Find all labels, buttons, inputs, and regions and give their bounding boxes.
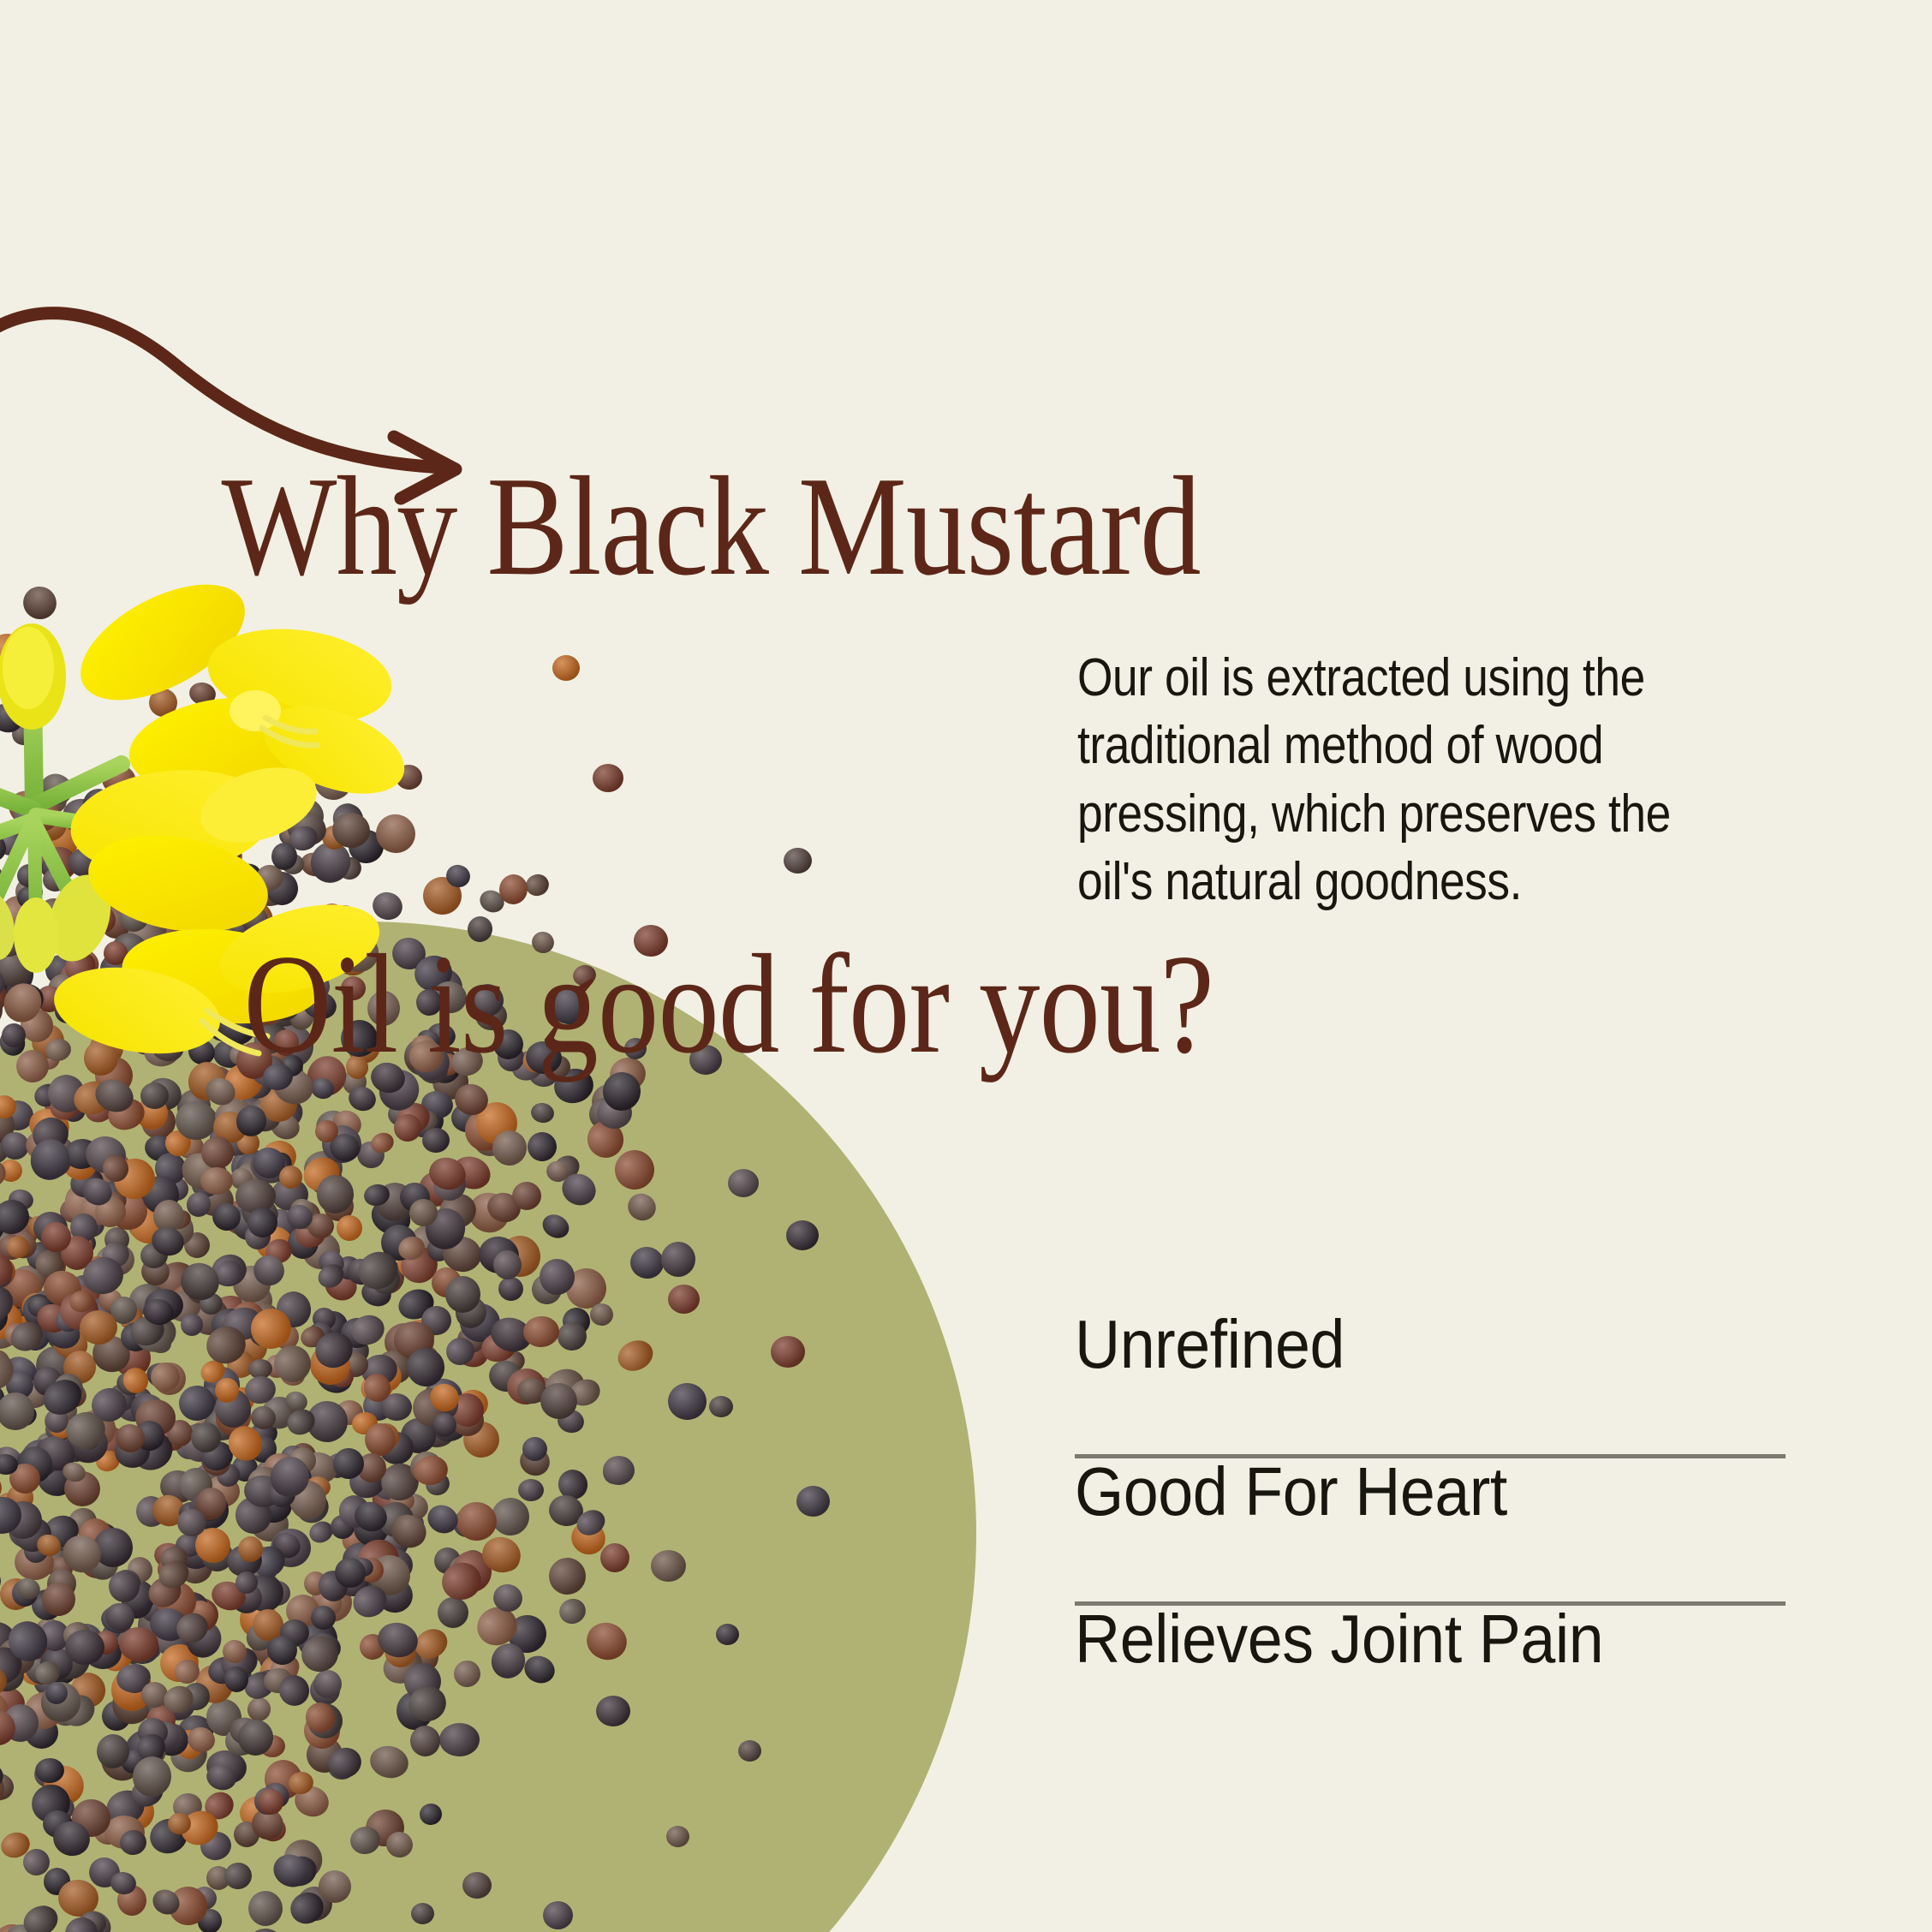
benefits-list: Unrefined Good For Heart Relieves Joint … xyxy=(1075,1310,1794,1752)
list-item: Relieves Joint Pain xyxy=(1075,1605,1794,1752)
benefit-label-unrefined: Unrefined xyxy=(1075,1310,1345,1379)
list-item: Unrefined xyxy=(1075,1310,1794,1458)
benefit-label-good-for-heart: Good For Heart xyxy=(1075,1458,1507,1526)
headline-line-2: Oil is good for you? xyxy=(243,925,1466,1084)
poster-canvas: Why Black Mustard Oil is good for you? O… xyxy=(0,0,1932,1932)
headline-line-1: Why Black Mustard xyxy=(222,447,1466,606)
intro-paragraph: Our oil is extracted using the tradition… xyxy=(1077,644,1674,915)
benefit-label-relieves-joint-pain: Relieves Joint Pain xyxy=(1075,1605,1603,1673)
list-item: Good For Heart xyxy=(1075,1458,1794,1605)
